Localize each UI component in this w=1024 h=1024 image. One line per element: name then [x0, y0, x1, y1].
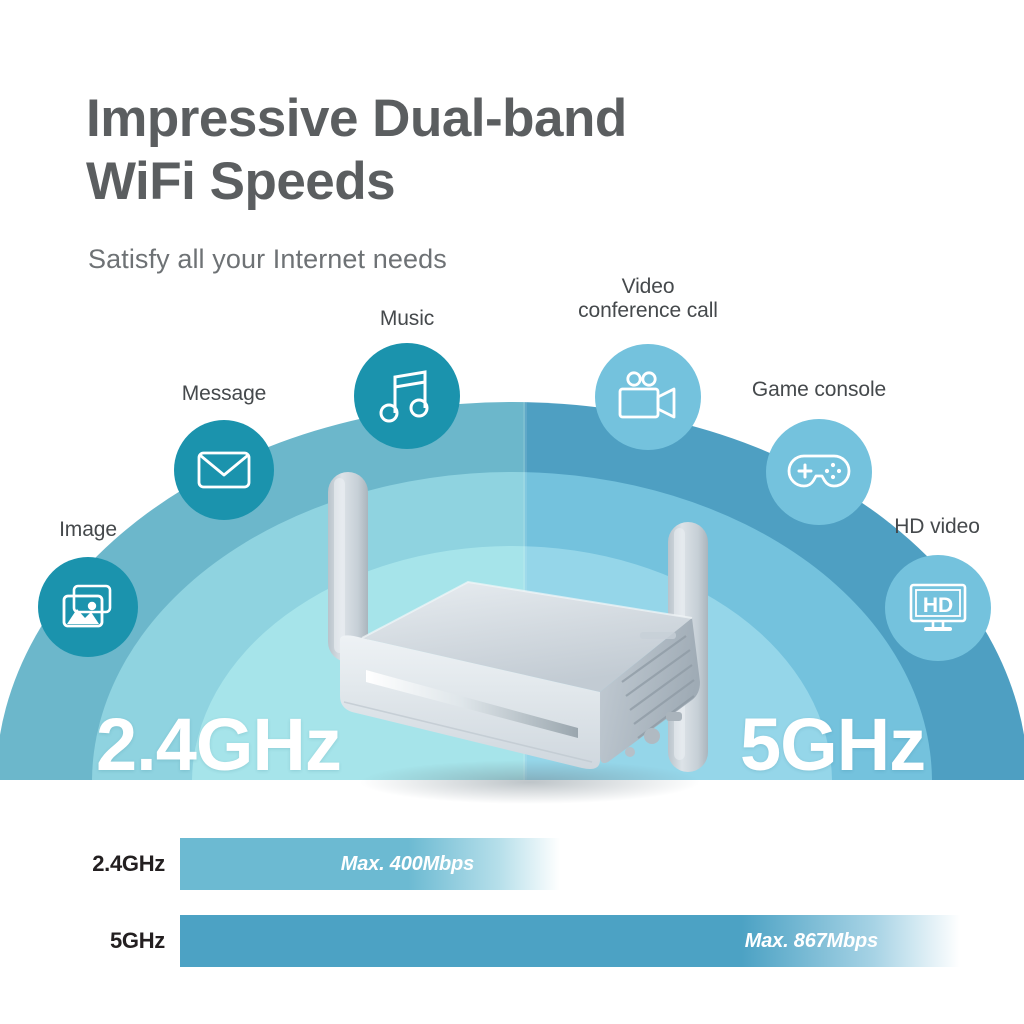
band-label-5ghz: 5GHz — [740, 708, 925, 782]
speed-bar-label-5ghz: 5GHz — [40, 915, 165, 967]
speed-bar-value-2-4ghz: Max. 400Mbps — [341, 853, 474, 876]
feature-image-label: Image — [18, 518, 158, 542]
gamepad-icon — [786, 450, 852, 494]
page-title-line2: WiFi Speeds — [86, 151, 806, 214]
speed-bar-fill-5ghz: Max. 867Mbps — [180, 915, 960, 967]
feature-message-bubble[interactable] — [174, 420, 274, 520]
photo-icon — [60, 582, 116, 632]
band-label-2-4ghz: 2.4GHz — [96, 708, 341, 782]
speed-bar-fill-2-4ghz: Max. 400Mbps — [180, 838, 560, 890]
feature-game-console-label: Game console — [724, 378, 914, 402]
music-note-icon — [379, 367, 435, 425]
speed-bar-track-5ghz: Max. 867Mbps — [180, 915, 960, 967]
feature-game-console-bubble[interactable] — [766, 419, 872, 525]
feature-music-label: Music — [337, 307, 477, 331]
page-title-line1: Impressive Dual-band — [86, 88, 806, 151]
feature-video-conference-label: Video conference call — [558, 275, 738, 324]
feature-music-bubble[interactable] — [354, 343, 460, 449]
speed-bar-label-2-4ghz: 2.4GHz — [40, 838, 165, 890]
page-subtitle: Satisfy all your Internet needs — [88, 244, 447, 275]
feature-hd-video-label: HD video — [862, 515, 1012, 539]
speed-bar-row-5ghz: 5GHz Max. 867Mbps — [0, 915, 1024, 967]
page-title: Impressive Dual-band WiFi Speeds — [86, 88, 806, 213]
video-camera-icon — [616, 371, 680, 423]
feature-message-label: Message — [154, 382, 294, 406]
envelope-icon — [196, 448, 252, 492]
infographic-canvas: Impressive Dual-band WiFi Speeds Satisfy… — [0, 0, 1024, 1024]
speed-bar-value-5ghz: Max. 867Mbps — [745, 930, 878, 953]
feature-hd-video-bubble[interactable]: HD — [885, 555, 991, 661]
hd-monitor-icon: HD — [907, 581, 969, 635]
speed-bar-track-2-4ghz: Max. 400Mbps — [180, 838, 560, 890]
svg-text:HD: HD — [923, 594, 953, 617]
feature-image-bubble[interactable] — [38, 557, 138, 657]
feature-video-conference-bubble[interactable] — [595, 344, 701, 450]
router-device-image — [300, 460, 750, 810]
speed-bar-row-2-4ghz: 2.4GHz Max. 400Mbps — [0, 838, 1024, 890]
